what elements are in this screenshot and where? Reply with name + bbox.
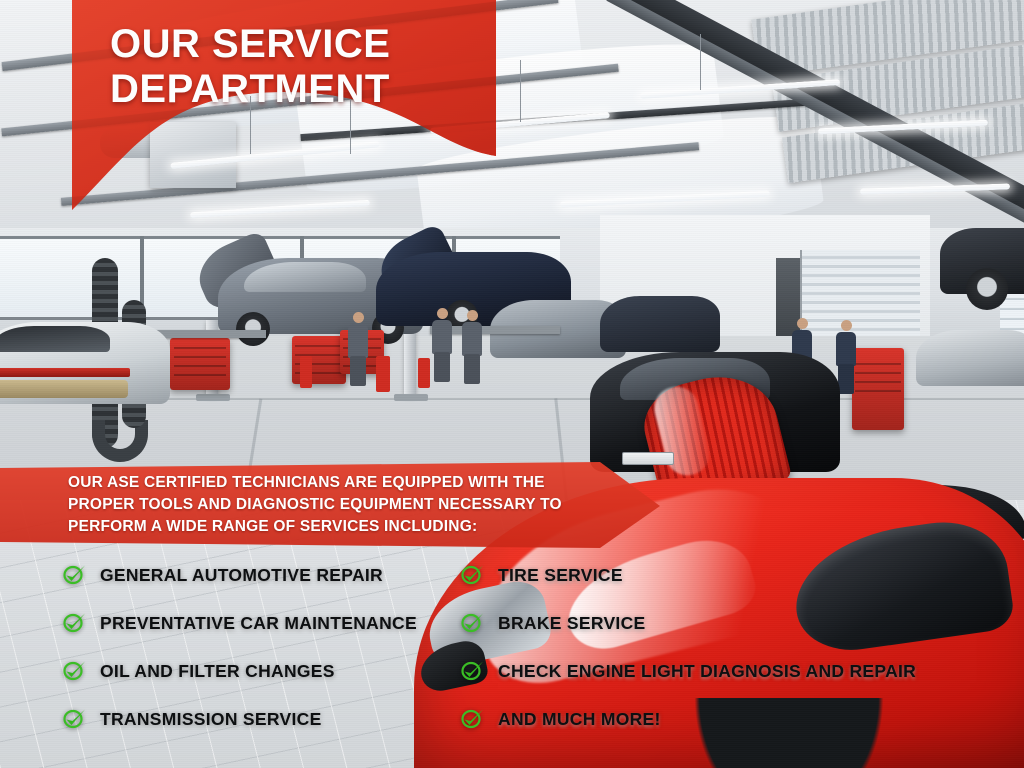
service-item: CHECK ENGINE LIGHT DIAGNOSIS AND REPAIR: [460, 648, 1020, 694]
green-check-icon: [62, 706, 88, 732]
service-label: OIL AND FILTER CHANGES: [100, 661, 335, 682]
service-item: OIL AND FILTER CHANGES: [62, 648, 462, 694]
car-bumper: [0, 380, 128, 398]
service-label: GENERAL AUTOMOTIVE REPAIR: [100, 565, 383, 586]
car-wheel: [236, 312, 270, 346]
car-taillight-band: [0, 368, 130, 377]
info-line-1: OUR ASE CERTIFIED TECHNICIANS ARE EQUIPP…: [68, 472, 588, 494]
service-label: AND MUCH MORE!: [498, 709, 661, 730]
vehicle-lift-base: [196, 394, 230, 401]
technician: [432, 308, 452, 382]
services-column-left: GENERAL AUTOMOTIVE REPAIR PREVENTATIVE C…: [62, 552, 462, 744]
car-window: [244, 262, 366, 292]
info-line-2: PROPER TOOLS AND DIAGNOSTIC EQUIPMENT NE…: [68, 494, 588, 516]
service-item: TRANSMISSION SERVICE: [62, 696, 462, 742]
car-wheel: [966, 268, 1008, 310]
green-check-icon: [460, 706, 486, 732]
green-check-icon: [62, 610, 88, 636]
light-hanger: [700, 34, 701, 90]
page-title-line-1: OUR SERVICE: [110, 22, 390, 66]
jack-stand: [376, 356, 390, 392]
light-hanger: [520, 60, 521, 122]
service-item: BRAKE SERVICE: [460, 600, 1020, 646]
green-check-icon: [460, 562, 486, 588]
car-window: [0, 326, 110, 352]
info-banner-text: OUR ASE CERTIFIED TECHNICIANS ARE EQUIPP…: [68, 472, 588, 538]
services-checklist: GENERAL AUTOMOTIVE REPAIR PREVENTATIVE C…: [0, 552, 1024, 752]
service-department-poster: OUR SERVICE DEPARTMENT OUR ASE CERTIFIED…: [0, 0, 1024, 768]
air-handler-box: [150, 122, 236, 188]
technician: [462, 310, 482, 384]
technician: [348, 312, 368, 386]
service-item: GENERAL AUTOMOTIVE REPAIR: [62, 552, 462, 598]
jack-stand: [300, 356, 312, 388]
service-label: PREVENTATIVE CAR MAINTENANCE: [100, 613, 417, 634]
green-check-icon: [460, 610, 486, 636]
service-label: TIRE SERVICE: [498, 565, 623, 586]
service-item: TIRE SERVICE: [460, 552, 1020, 598]
service-label: CHECK ENGINE LIGHT DIAGNOSIS AND REPAIR: [498, 661, 916, 682]
page-title: OUR SERVICE DEPARTMENT: [110, 22, 470, 112]
services-column-right: TIRE SERVICE BRAKE SERVICE CHECK ENGINE …: [460, 552, 1020, 744]
page-title-line-2: DEPARTMENT: [110, 67, 470, 112]
tool-chest: [170, 338, 230, 390]
info-line-3: PERFORM A WIDE RANGE OF SERVICES INCLUDI…: [68, 516, 588, 538]
service-item: AND MUCH MORE!: [460, 696, 1020, 742]
green-check-icon: [62, 562, 88, 588]
service-label: TRANSMISSION SERVICE: [100, 709, 322, 730]
technician: [836, 320, 854, 386]
car-dark-suv: [600, 296, 720, 352]
service-label: BRAKE SERVICE: [498, 613, 646, 634]
green-check-icon: [460, 658, 486, 684]
service-item: PREVENTATIVE CAR MAINTENANCE: [62, 600, 462, 646]
green-check-icon: [62, 658, 88, 684]
